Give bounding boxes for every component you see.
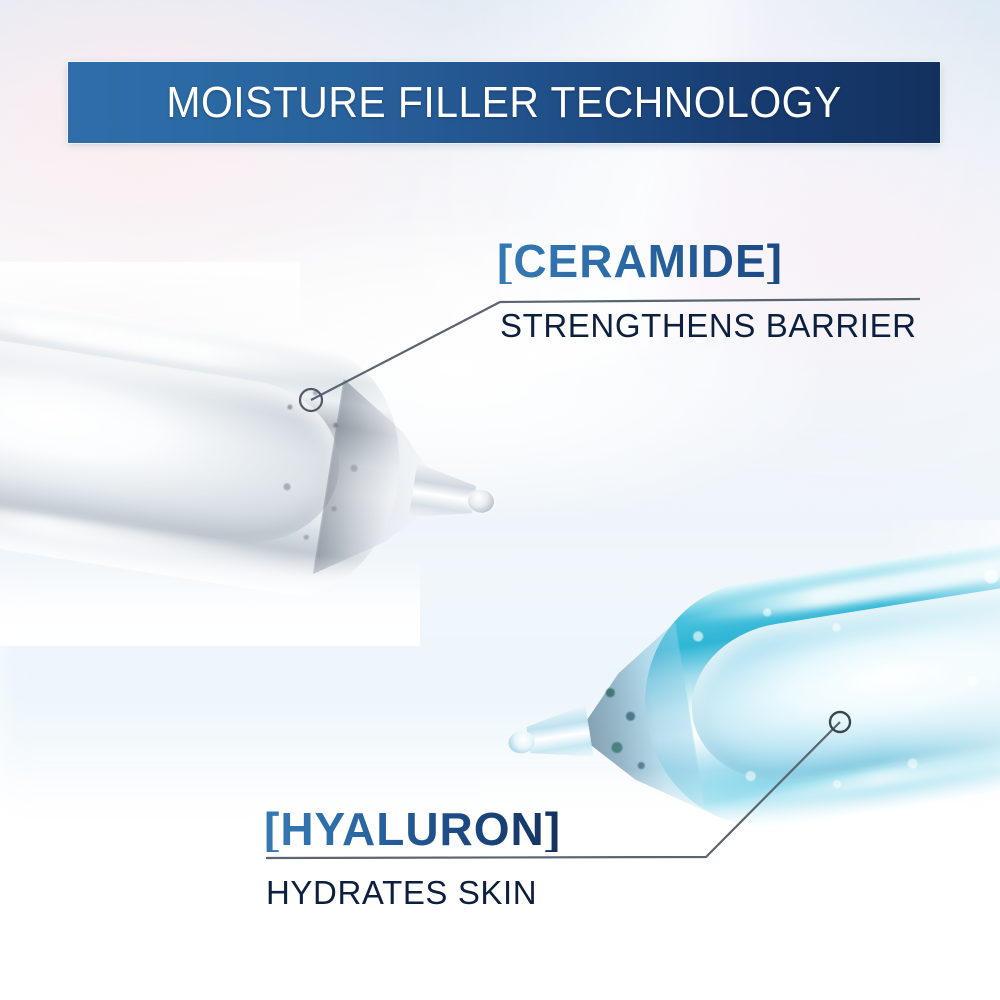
- callout-ceramide: [CERAMIDE] STRENGTHENS BARRIER: [497, 238, 917, 342]
- callout-subtitle-ceramide: STRENGTHENS BARRIER: [500, 309, 917, 342]
- callout-title-hyaluron: [HYALURON]: [264, 806, 561, 852]
- callout-subtitle-hyaluron: HYDRATES SKIN: [266, 876, 561, 909]
- callout-title-ceramide: [CERAMIDE]: [497, 238, 917, 284]
- page-title: MOISTURE FILLER TECHNOLOGY: [166, 78, 841, 128]
- header-banner: MOISTURE FILLER TECHNOLOGY: [68, 62, 940, 143]
- product-feature-graphic: MOISTURE FILLER TECHNOLOGY [CERAMIDE] ST…: [0, 0, 1000, 1000]
- callout-hyaluron: [HYALURON] HYDRATES SKIN: [264, 806, 561, 909]
